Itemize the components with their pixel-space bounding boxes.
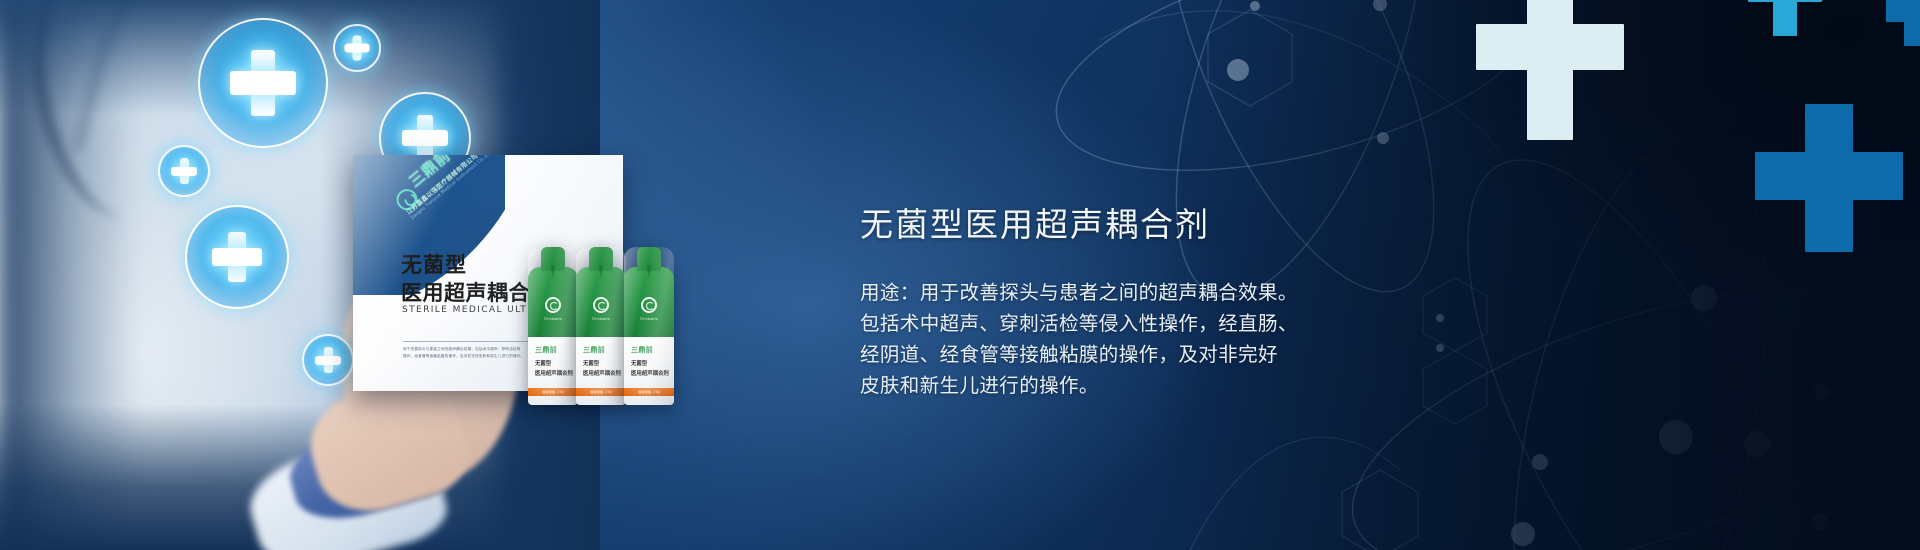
description-line: 皮肤和新生儿进行的操作。 xyxy=(860,370,1480,401)
medical-cross-icon xyxy=(1755,104,1903,252)
product-package: 三鼎前 江苏嘉鑫以强医疗器械有限公司 Jiangsu Tianyue Medic… xyxy=(353,155,673,405)
page-title: 无菌型医用超声耦合剂 xyxy=(860,198,1480,246)
product-description: 用途：用于改善探头与患者之间的超声耦合效果。 包括术中超声、穿刺活检等侵入性操作… xyxy=(860,277,1480,401)
product-hero-banner: 三鼎前 江苏嘉鑫以强医疗器械有限公司 Jiangsu Tianyue Medic… xyxy=(0,0,1920,550)
sachet-item: Thinkable 三鼎前 无菌型 医用超声耦合剂 规格规格: 20g xyxy=(576,247,626,405)
box-title-line1: 无菌型 xyxy=(401,249,467,279)
box-fine-print-line1: 用于改善探头与患者之间的超声耦合效果。包括术中超声、穿刺活检等 xyxy=(403,347,521,352)
description-line: 用途：用于改善探头与患者之间的超声耦合效果。 xyxy=(860,277,1480,308)
marketing-copy: 无菌型医用超声耦合剂 用途：用于改善探头与患者之间的超声耦合效果。 包括术中超声… xyxy=(860,198,1480,401)
medical-cross-icon xyxy=(333,24,381,72)
description-line: 包括术中超声、穿刺活检等侵入性操作，经直肠、 xyxy=(860,308,1480,339)
medical-cross-icon xyxy=(1748,0,1822,36)
medical-cross-icon xyxy=(198,18,328,148)
medical-cross-icon xyxy=(302,334,354,386)
medical-cross-icon xyxy=(158,145,210,197)
box-fine-print-line2: 操作、经食管等接触粘膜的操作，及对非完好皮肤和新生儿进行的操作。 xyxy=(403,354,524,359)
sachet-group: Thinkable 三鼎前 无菌型 医用超声耦合剂 规格规格: 20g Thin… xyxy=(528,247,678,407)
medical-cross-icon xyxy=(1476,0,1624,140)
medical-cross-icon xyxy=(185,205,289,309)
sachet-item: Thinkable 三鼎前 无菌型 医用超声耦合剂 规格规格: 20g xyxy=(624,247,674,405)
description-line: 经阴道、经食管等接触粘膜的操作，及对非完好 xyxy=(860,339,1480,370)
medical-cross-icon xyxy=(1886,0,1920,46)
sachet-item: Thinkable 三鼎前 无菌型 医用超声耦合剂 规格规格: 20g xyxy=(528,247,578,405)
